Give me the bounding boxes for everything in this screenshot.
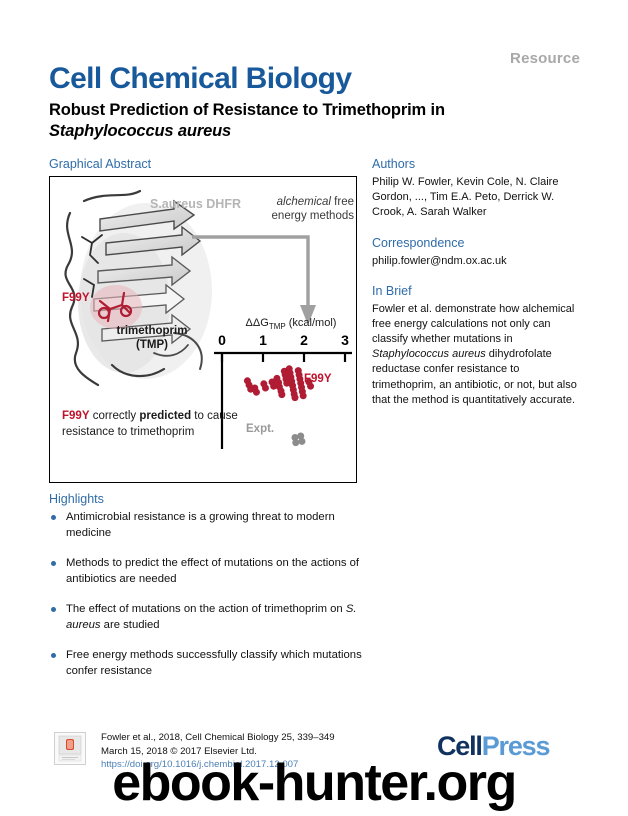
methods-annotation-emphasis: alchemical [277, 196, 331, 208]
methods-annotation-rest: free [331, 196, 354, 208]
plot-tick-label: 3 [341, 332, 349, 348]
structure-label: S.aureus DHFR [150, 197, 241, 211]
highlight-item: Methods to predict the effect of mutatio… [49, 556, 369, 587]
scatter-point [300, 392, 307, 399]
axis-title-subscript: TMP [269, 322, 286, 331]
in-brief-species: Staphylococcus aureus [372, 348, 486, 360]
in-brief-heading: In Brief [372, 284, 580, 298]
article-title-line1: Robust Prediction of Resistance to Trime… [49, 101, 445, 119]
watermark-overlay: ebook-hunter.org [0, 757, 628, 809]
highlight-item-post: are studied [101, 619, 160, 631]
scatter-point [278, 391, 285, 398]
in-brief-body: Fowler et al. demonstrate how alchemical… [372, 302, 580, 408]
plot-tick-label: 0 [218, 332, 226, 348]
figure-caption: F99Y correctly predicted to cause resist… [62, 409, 242, 441]
article-title: Robust Prediction of Resistance to Trime… [49, 100, 479, 142]
scatter-point [298, 438, 305, 445]
axis-title-units: (kcal/mol) [289, 317, 337, 329]
ligand-label-line1: trimethoprim [117, 325, 188, 337]
resource-tag: Resource [510, 50, 580, 67]
citation-line-1: Fowler et al., 2018, Cell Chemical Biolo… [101, 732, 335, 743]
figure-caption-mutation: F99Y [62, 410, 90, 422]
plot-tick-label: 2 [300, 332, 308, 348]
scatter-point [262, 385, 269, 392]
highlight-item-pre: The effect of mutations on the action of… [66, 603, 346, 615]
journal-title: Cell Chemical Biology [49, 64, 351, 94]
axis-title-prefix: ΔΔG [246, 317, 269, 329]
in-brief-block: In Brief Fowler et al. demonstrate how a… [372, 284, 580, 408]
scatter-point [292, 439, 299, 446]
highlight-item: The effect of mutations on the action of… [49, 602, 369, 633]
right-column: Authors Philip W. Fowler, Kevin Cole, N.… [372, 157, 580, 423]
correspondence-block: Correspondence philip.fowler@ndm.ox.ac.u… [372, 236, 580, 269]
mutation-label-structure: F99Y [62, 292, 90, 304]
plot-tick-labels: 0123 [218, 332, 349, 348]
authors-block: Authors Philip W. Fowler, Kevin Cole, N.… [372, 157, 580, 221]
authors-list: Philip W. Fowler, Kevin Cole, N. Claire … [372, 175, 580, 221]
figure-caption-mid: correctly [90, 410, 140, 422]
correspondence-email[interactable]: philip.fowler@ndm.ox.ac.uk [372, 254, 580, 269]
highlight-item: Antimicrobial resistance is a growing th… [49, 510, 369, 541]
workflow-arrow-icon [190, 221, 340, 331]
series-label-expt: Expt. [246, 423, 274, 435]
graphical-abstract-figure: S.aureus DHFR F99Y trimethoprim (TMP) al… [49, 176, 357, 483]
authors-heading: Authors [372, 157, 580, 171]
figure-caption-emphasis: predicted [139, 410, 191, 422]
scatter-point [253, 389, 260, 396]
ligand-label-line2: (TMP) [136, 339, 168, 351]
highlights-heading: Highlights [49, 492, 104, 506]
scatter-point [291, 394, 298, 401]
correspondence-heading: Correspondence [372, 236, 580, 250]
in-brief-part1: Fowler et al. demonstrate how alchemical… [372, 303, 574, 345]
plot-tick-label: 1 [259, 332, 267, 348]
article-title-line2: Staphylococcus aureus [49, 122, 231, 140]
highlights-list: Antimicrobial resistance is a growing th… [49, 510, 369, 695]
methods-annotation: alchemical free energy methods [246, 195, 354, 223]
graphical-abstract-heading: Graphical Abstract [49, 157, 151, 171]
series-label-f99y: F99Y [304, 373, 332, 385]
journal-cover-page: Resource Cell Chemical Biology Robust Pr… [0, 0, 628, 816]
highlight-item: Free energy methods successfully classif… [49, 648, 369, 679]
chart-axis-title: ΔΔGTMP (kcal/mol) [226, 317, 356, 331]
